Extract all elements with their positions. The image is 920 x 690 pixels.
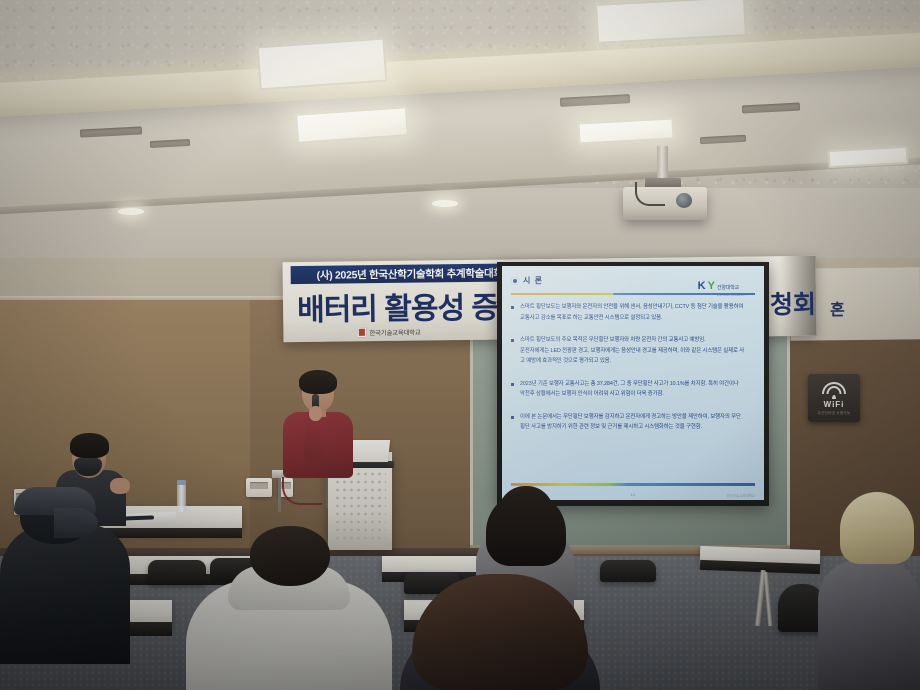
attendee-body: [818, 560, 920, 690]
slide-bullet-icon: [511, 277, 519, 285]
banner-title-tail: 청회: [770, 285, 816, 322]
lecture-room-photo: WiFi 무선인터넷 사용가능 혼 (사) 2025년 한국산학기술학회 추계학…: [0, 0, 920, 690]
bottle-cap: [177, 480, 186, 485]
slide-bullet-line: 이에 본 논문에서는 무단횡단 보행자를 감지하고 운전자에게 경고하는 방안을…: [520, 412, 755, 423]
wifi-icon: [821, 382, 847, 399]
logo-university-name: 건양대학교: [717, 285, 739, 291]
attendee-hair: [486, 492, 566, 566]
side-table-leg: [278, 478, 281, 512]
ceiling-downlight: [432, 200, 458, 207]
podium-panel-grid: [334, 470, 386, 544]
slide-bullet-item: 스마트 횡단보도의 주요 목적은 무단횡단 보행자와 차량 운전자 간의 교통사…: [511, 335, 755, 367]
chair[interactable]: [600, 560, 656, 582]
university-logo-icon: [357, 327, 366, 337]
projection-screen: 시 론 K Y 건양대학교 KONYANG UNIVERSITY 스마트 횡단보…: [502, 266, 764, 500]
projector-mount-pole: [657, 146, 668, 180]
slide-bullet-line: 교통사고 감소를 목표로 하는 교통안전 시스템으로 설정되고 있음.: [520, 313, 755, 324]
slide-body: 스마트 횡단보도는 보행자와 운전자의 안전을 위해 센서, 음성안내기기, C…: [511, 302, 755, 472]
attendee-hair: [840, 492, 914, 564]
banner-title: 배터리 활용성 증대: [297, 282, 525, 329]
slide-bullet-line: 고 예방에 효과적인 것으로 평가되고 있음.: [520, 356, 755, 367]
water-bottle: [177, 484, 186, 512]
logo-letter-k: K: [698, 281, 706, 292]
presenter-hair: [299, 370, 337, 394]
wifi-sign: WiFi 무선인터넷 사용가능: [808, 374, 860, 422]
ceiling-light-panel: [257, 38, 388, 91]
chair[interactable]: [148, 560, 206, 584]
attendee-head: [250, 526, 330, 586]
slide-brand-footer: 한국기술교육대학교: [727, 493, 755, 498]
slide-bullet-line: 스마트 횡단보도의 주요 목적은 무단횡단 보행자와 차량 운전자 간의 교통사…: [520, 335, 755, 346]
cap-brim: [54, 508, 98, 538]
projector-cable: [635, 182, 665, 206]
banner-logo: 한국기술교육대학교: [357, 327, 420, 338]
slide-footer-bar: [511, 483, 755, 486]
slide-bullet-line: 횡단 사고를 방지하기 위한 관련 정보 및 근거를 제시하고 시스템화하는 것…: [520, 422, 755, 433]
attendee-body: [0, 524, 130, 664]
attendee-hair: [70, 433, 109, 458]
power-cable: [282, 477, 322, 505]
presenter-hand: [309, 406, 322, 421]
ceiling-downlight: [118, 208, 144, 215]
logo-letter-y: Y: [708, 281, 715, 292]
banner-header-label: (사) 2025년 한국산학기술학회 추계학술대회: [317, 265, 503, 282]
wall-sign-right-text: 혼: [830, 296, 845, 320]
slide-header: 시 론 K Y 건양대학교 KONYANG UNIVERSITY: [511, 274, 755, 294]
slide-bullet-item: 이에 본 논문에서는 무단횡단 보행자를 감지하고 운전자에게 경고하는 방안을…: [511, 412, 755, 433]
slide-divider: [511, 293, 755, 295]
attendee-hand: [110, 478, 130, 494]
slide-bullet-line: 악천후 상황에서는 보행자 인식이 어려워 사고 위험이 더욱 증가함.: [520, 389, 755, 400]
slide-bullet-line: 스마트 횡단보도는 보행자와 운전자의 안전을 위해 센서, 음성안내기기, C…: [520, 302, 755, 313]
slide-bullet-line: 2023년 기준 보행자 교통사고는 총 37,284건, 그 중 무단횡단 사…: [520, 379, 755, 390]
slide-bullet-item: 스마트 횡단보도는 보행자와 운전자의 안전을 위해 센서, 음성안내기기, C…: [511, 302, 755, 323]
banner-logo-text: 한국기술교육대학교: [369, 327, 420, 338]
slide-bullet-item: 2023년 기준 보행자 교통사고는 총 37,284건, 그 중 무단횡단 사…: [511, 379, 755, 400]
slide-title: 시 론: [523, 275, 543, 286]
wifi-sign-sublabel: 무선인터넷 사용가능: [817, 410, 850, 415]
banner-header-bar: (사) 2025년 한국산학기술학회 추계학술대회: [291, 263, 529, 284]
wall-outlet[interactable]: [246, 478, 272, 497]
projector-lens: [676, 193, 692, 208]
slide-bullet-line: 운전자에게는 LED 전광판 경고, 보행자에게는 음성안내 경고를 제공하며,…: [520, 346, 755, 357]
wifi-sign-label: WiFi: [824, 400, 845, 409]
